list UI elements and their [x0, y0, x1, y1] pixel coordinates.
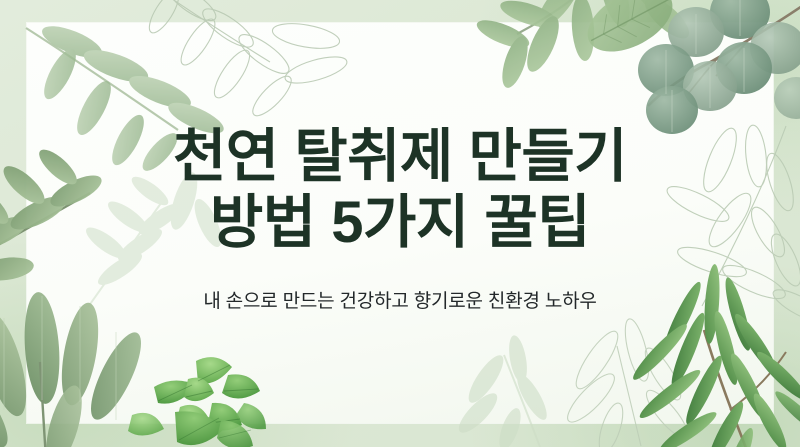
page-subtitle: 내 손으로 만드는 건강하고 향기로운 친환경 노하우 [0, 286, 800, 313]
poster-canvas: 천연 탈취제 만들기 방법 5가지 꿀팁 내 손으로 만드는 건강하고 향기로운… [0, 0, 800, 447]
page-title-line-2: 방법 5가지 꿀팁 [0, 194, 800, 252]
poster-text-block: 천연 탈취제 만들기 방법 5가지 꿀팁 내 손으로 만드는 건강하고 향기로운… [0, 128, 800, 313]
page-title-line-1: 천연 탈취제 만들기 [0, 128, 800, 186]
